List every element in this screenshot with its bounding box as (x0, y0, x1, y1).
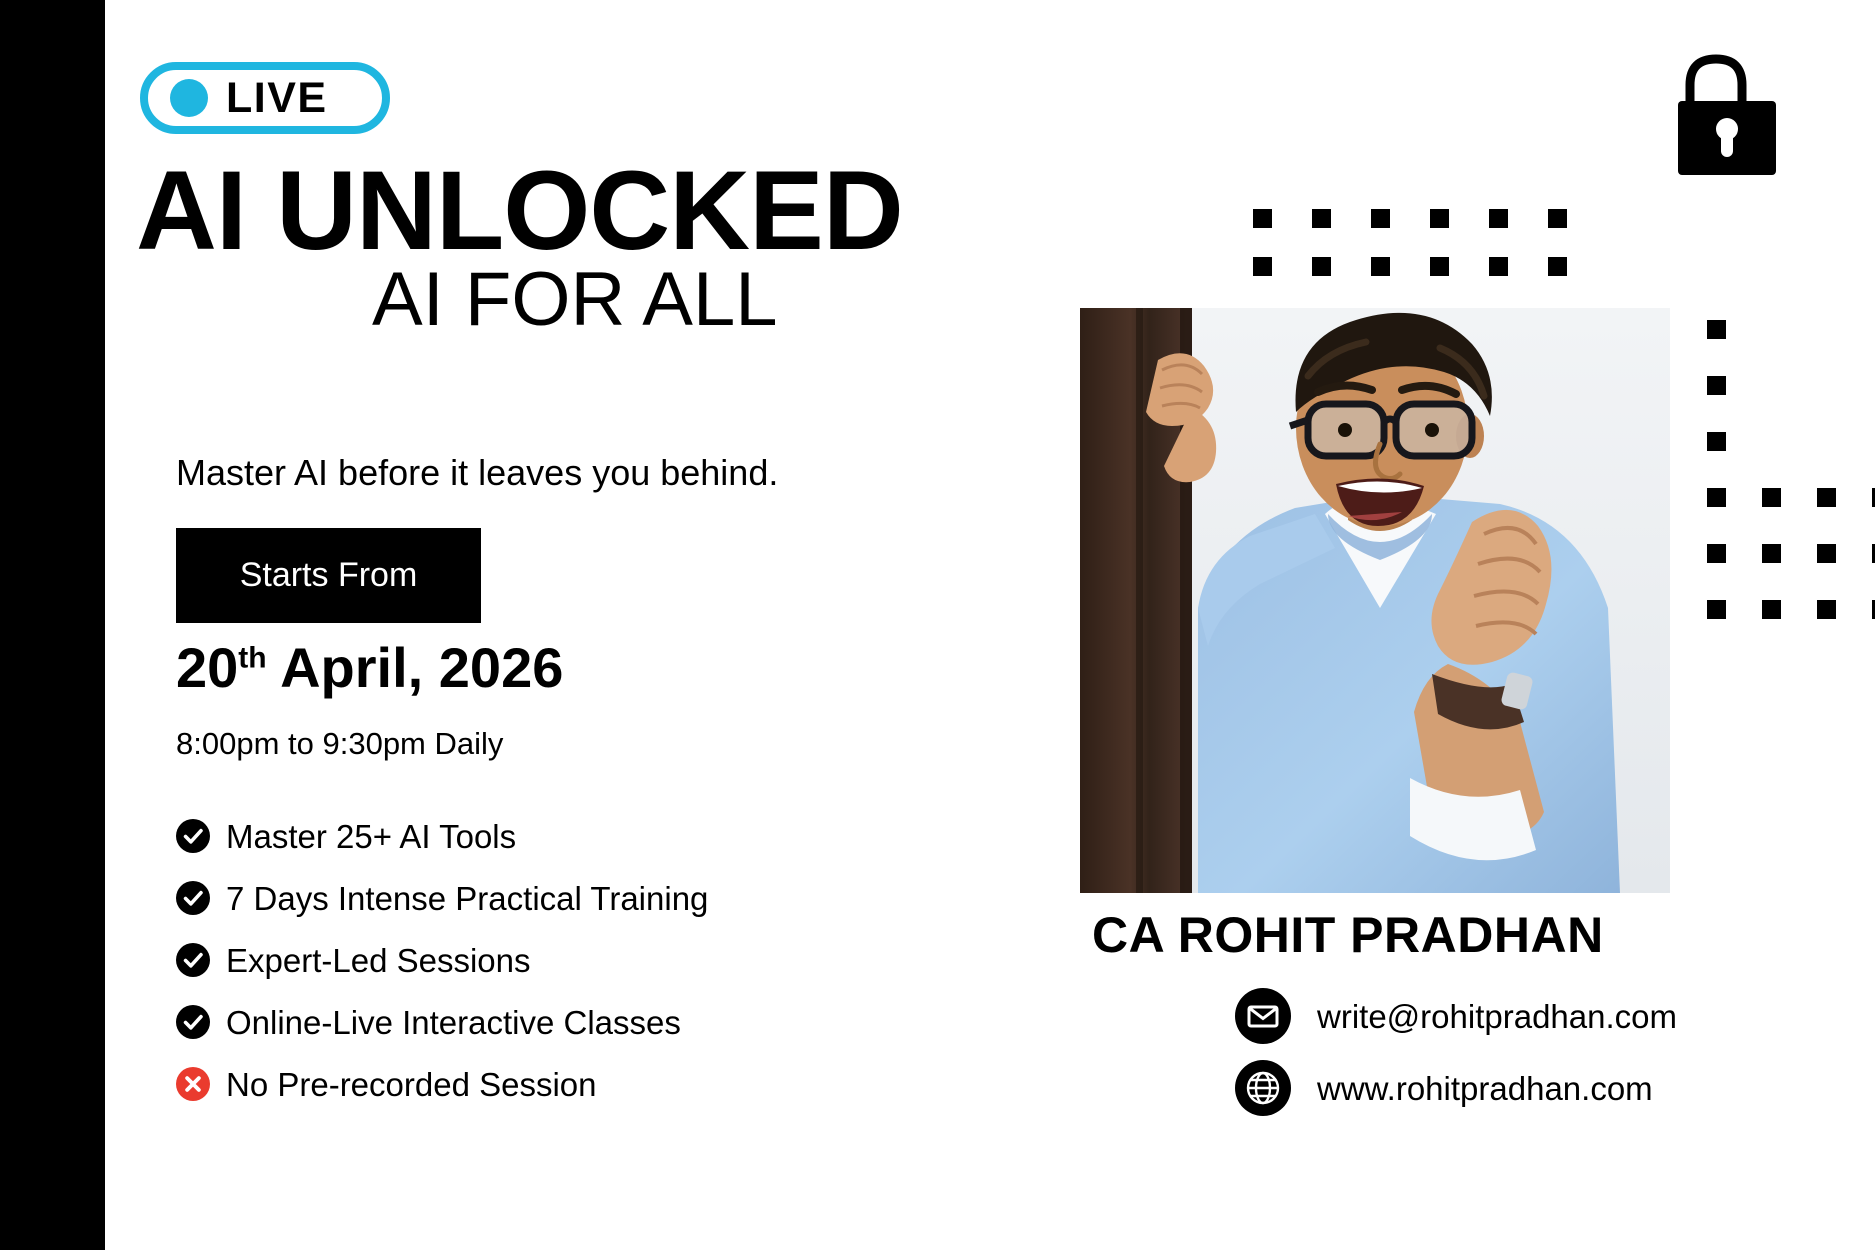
open-padlock-icon (1672, 45, 1782, 175)
event-date: 20th April, 2026 (176, 640, 563, 696)
event-date-rest: April, 2026 (267, 636, 564, 699)
globe-icon (1235, 1060, 1291, 1116)
dot (1371, 209, 1390, 228)
check-circle-icon (176, 1005, 210, 1039)
event-date-suffix: th (238, 641, 266, 674)
dot (1430, 209, 1449, 228)
dot (1817, 600, 1836, 619)
tagline: Master AI before it leaves you behind. (176, 455, 778, 491)
dot (1312, 209, 1331, 228)
live-badge-label: LIVE (226, 77, 328, 120)
dot (1762, 600, 1781, 619)
left-accent-bar (0, 0, 105, 1250)
list-item-label: Online-Live Interactive Classes (226, 1006, 681, 1039)
dot (1817, 544, 1836, 563)
page-title: AI UNLOCKED (136, 155, 903, 267)
contact-email-value: write@rohitpradhan.com (1317, 1000, 1677, 1033)
list-item: 7 Days Intense Practical Training (176, 867, 708, 929)
event-date-day: 20 (176, 636, 238, 699)
contact-website-value: www.rohitpradhan.com (1317, 1072, 1653, 1105)
list-item-label: 7 Days Intense Practical Training (226, 882, 708, 915)
dot (1817, 488, 1836, 507)
live-dot-icon (170, 79, 208, 117)
dot (1707, 376, 1726, 395)
list-item: Master 25+ AI Tools (176, 805, 708, 867)
dot (1489, 257, 1508, 276)
event-time: 8:00pm to 9:30pm Daily (176, 728, 503, 759)
dot (1762, 488, 1781, 507)
x-circle-icon (176, 1067, 210, 1101)
presenter-name: CA ROHIT PRADHAN (1092, 910, 1604, 960)
dot (1253, 209, 1272, 228)
check-circle-icon (176, 943, 210, 977)
list-item-label: Expert-Led Sessions (226, 944, 531, 977)
check-circle-icon (176, 819, 210, 853)
list-item: Online-Live Interactive Classes (176, 991, 708, 1053)
dot (1253, 257, 1272, 276)
list-item: No Pre-recorded Session (176, 1053, 708, 1115)
dot (1707, 432, 1726, 451)
check-circle-icon (176, 881, 210, 915)
feature-list: Master 25+ AI Tools 7 Days Intense Pract… (176, 805, 708, 1115)
list-item: Expert-Led Sessions (176, 929, 708, 991)
dot (1489, 209, 1508, 228)
dot (1707, 544, 1726, 563)
list-item-label: Master 25+ AI Tools (226, 820, 516, 853)
presenter-photo (1080, 308, 1670, 893)
starts-from-button[interactable]: Starts From (176, 528, 481, 623)
dot (1707, 320, 1726, 339)
dot (1548, 209, 1567, 228)
dot (1707, 488, 1726, 507)
dot (1707, 600, 1726, 619)
dot (1762, 544, 1781, 563)
dot (1430, 257, 1449, 276)
contact-website[interactable]: www.rohitpradhan.com (1235, 1060, 1653, 1116)
dot (1371, 257, 1390, 276)
live-badge: LIVE (140, 62, 390, 134)
page-subtitle: AI FOR ALL (372, 262, 778, 338)
presenter-photo-illustration (1080, 308, 1670, 893)
dot (1548, 257, 1567, 276)
list-item-label: No Pre-recorded Session (226, 1068, 597, 1101)
poster-canvas: LIVE AI UNLOCKED AI FOR ALL Master AI be… (0, 0, 1875, 1250)
dot (1312, 257, 1331, 276)
starts-from-label: Starts From (240, 556, 418, 595)
envelope-icon (1235, 988, 1291, 1044)
contact-email[interactable]: write@rohitpradhan.com (1235, 988, 1677, 1044)
